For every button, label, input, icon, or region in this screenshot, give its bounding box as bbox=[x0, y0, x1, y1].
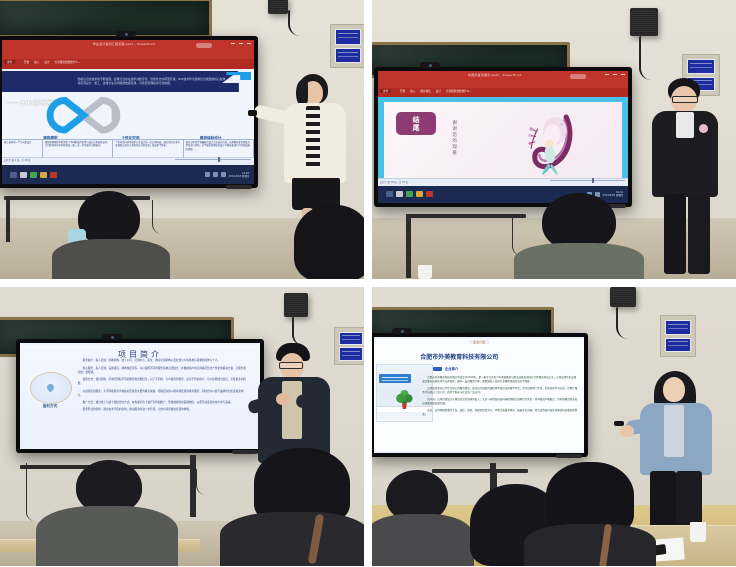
presenter-leg-right bbox=[688, 194, 710, 274]
ppt-title-text: 中国风答辩展示.pptx - PowerPoint bbox=[468, 73, 521, 77]
ppt-tab-start[interactable]: 开始 bbox=[400, 89, 405, 93]
screen-display: 项目简介 盈利方式 服务客户：私人定制、家教机构、线下公司、培训中心、医生、教育… bbox=[20, 343, 260, 449]
chinese-ink-illustration-icon bbox=[496, 106, 603, 180]
presenter-head bbox=[663, 377, 685, 402]
presenter-shirt bbox=[676, 112, 694, 138]
wall-speaker-icon bbox=[284, 293, 308, 317]
smart-screen[interactable]: 毕业设计答辩汇报定稿.pptx - PowerPoint 文件 开始 插入 设计… bbox=[0, 36, 258, 188]
ppt-titlebar: 中国风答辩展示.pptx - PowerPoint bbox=[378, 71, 628, 88]
audience-shoulders bbox=[220, 512, 364, 566]
audience-member-bag bbox=[524, 462, 656, 566]
wall-cable bbox=[26, 463, 35, 521]
slide-counter: 幻灯片 第 4 张，共 18 张 bbox=[4, 158, 30, 162]
audience-member-longhair bbox=[288, 205, 364, 279]
screen-camera-icon bbox=[102, 334, 122, 340]
company-sign bbox=[379, 374, 411, 383]
panel-top-left: 毕业设计答辩汇报定稿.pptx - PowerPoint 文件 开始 插入 设计… bbox=[0, 0, 364, 279]
wall-plate-display-top bbox=[335, 29, 361, 44]
closing-badge-text: 结尾 bbox=[411, 116, 421, 132]
blackboard-sheen bbox=[0, 1, 209, 35]
panel-top-right: 中国风答辩展示.pptx - PowerPoint 文件 开始 插入 图片格式 … bbox=[372, 0, 736, 279]
windows-taskbar[interactable]: 14:26 2024/4/18 星期四 bbox=[2, 165, 254, 184]
slide-paragraph-3: 未来，公司将继续秉持专业、诚信、创新、共赢的经营方针，不断完善服务体系，拓展业务… bbox=[422, 409, 577, 417]
presenter-clicker-icon bbox=[614, 421, 624, 426]
slide-bim: ——BIM技术发展 随着信息化技术的不断发展，建筑行业也在逐步向数字化、智能化方… bbox=[2, 69, 254, 165]
ppt-tab-insert[interactable]: 插入 bbox=[34, 60, 39, 64]
audience-member-grey bbox=[36, 460, 178, 566]
presenter-inner-shirt bbox=[664, 405, 684, 457]
smart-screen[interactable]: 项目简介 盈利方式 服务客户：私人定制、家教机构、线下公司、培训中心、医生、教育… bbox=[16, 339, 264, 453]
taskbar-apps[interactable] bbox=[386, 191, 433, 197]
window-controls[interactable] bbox=[605, 74, 625, 75]
slide-subtitle: 企业简介 bbox=[445, 366, 459, 371]
profit-badge-label: 盈利方式 bbox=[30, 404, 71, 409]
water-drop-icon bbox=[46, 383, 56, 393]
presenter-hand bbox=[620, 425, 634, 437]
closing-badge: 结尾 bbox=[396, 112, 436, 136]
slide-paragraph-2: 近年来，公司持续加大在教育信息化领域的投入，先后与多所高校和科研院所建立战略合作… bbox=[422, 398, 577, 406]
slide-paragraph-0: 合肥市外美教育科技有限公司成立于2018年，是一家专注于青少年素质教育与职业技能… bbox=[422, 376, 577, 384]
audience-member-center bbox=[514, 193, 644, 279]
photo-collage: 毕业设计答辩汇报定稿.pptx - PowerPoint 文件 开始 插入 设计… bbox=[0, 0, 736, 567]
screen-display: 企业介绍 合肥市外美教育科技有限公司 企业简介 合肥市外美教育科技有限公司成立于… bbox=[374, 337, 584, 453]
screen-brand-logo bbox=[226, 185, 252, 189]
explorer-icon[interactable] bbox=[396, 191, 403, 197]
panel-bottom-left: 项目简介 盈利方式 服务客户：私人定制、家教机构、线下公司、培训中心、医生、教育… bbox=[0, 287, 364, 566]
ppt-statusbar: 幻灯片 第 4 张，共 18 张 bbox=[2, 157, 254, 165]
slide-paragraph-1: 核心服务：私人定制、设备租赁、场地预定等等，可以按照不同的服务需求灵活组合，并根… bbox=[78, 367, 248, 376]
ppt-statusbar: 幻灯片 第 18 张，共 18 张 bbox=[378, 178, 628, 186]
presenter-glasses-icon bbox=[279, 362, 303, 369]
zoom-slider[interactable] bbox=[175, 159, 251, 160]
blackboard bbox=[0, 0, 212, 38]
audience-shoulders bbox=[52, 239, 170, 279]
slide-paragraph-0: 服务客户：私人定制、家教机构、线下公司、培训中心、医生、教育培训机构以及社会公众… bbox=[78, 359, 248, 363]
slide-title: 合肥市外美教育科技有限公司 bbox=[420, 352, 498, 361]
screen-stand-bar bbox=[406, 214, 526, 218]
wall-speaker-icon bbox=[268, 0, 288, 14]
browser-icon[interactable] bbox=[406, 191, 413, 197]
slide-paragraph-4: 推广方式：通过线上与线下相结合的方式，在各类平台上进行宣传和推广，形成规模化的品… bbox=[78, 401, 248, 405]
wall-plate-display-top bbox=[339, 332, 363, 346]
smart-screen[interactable]: 中国风答辩展示.pptx - PowerPoint 文件 开始 插入 图片格式 … bbox=[374, 67, 632, 207]
slide-subtitle-row: 企业简介 bbox=[433, 366, 459, 371]
presenter-leg-left bbox=[664, 194, 686, 274]
presenter-male-suit bbox=[644, 78, 730, 278]
powerpoint-icon[interactable] bbox=[426, 191, 433, 197]
window-controls[interactable] bbox=[231, 43, 251, 44]
taskbar-apps[interactable] bbox=[10, 172, 57, 178]
speaker-cable bbox=[639, 36, 655, 80]
ppt-tab-design[interactable]: 设计 bbox=[436, 89, 441, 93]
ppt-tab-picture-format[interactable]: 图片格式 bbox=[420, 89, 430, 93]
ppt-tab-design[interactable]: 设计 bbox=[44, 60, 49, 64]
potted-plant-icon bbox=[395, 390, 414, 404]
slide-paragraph-3: 公益性质的服务：为不同地区的学校和社区提供免费的教育资源，帮助更多的人群获得优质… bbox=[78, 390, 248, 399]
audience-shoulders bbox=[514, 243, 644, 279]
ppt-tab-file[interactable]: 文件 bbox=[4, 60, 15, 64]
power-cable bbox=[196, 469, 217, 495]
wall-control-plate bbox=[330, 24, 364, 68]
wall-plate-display-bottom bbox=[665, 338, 691, 353]
ppt-menu-items[interactable]: 开始 插入 图片格式 设计 告诉我您想要做什么... bbox=[400, 89, 472, 93]
slide-paragraph-2: 盈利方式：通过团购、区域代理和不同的服务模式相结合，对于不同的、大众量的同类型，… bbox=[78, 378, 248, 387]
slide-body-text: 随着信息化技术的不断发展，建筑行业也在逐步向数字化、智能化方向转型升级。BIM技… bbox=[78, 77, 232, 86]
taskbar-tray[interactable]: 14:26 2024/4/18 星期四 bbox=[205, 172, 249, 178]
input-method-icon[interactable] bbox=[221, 172, 226, 177]
ppt-tab-file[interactable]: 文件 bbox=[380, 89, 391, 93]
mail-icon[interactable] bbox=[416, 191, 423, 197]
screen-stand-leg bbox=[6, 196, 10, 242]
start-icon[interactable] bbox=[10, 172, 17, 178]
ppt-search-hint[interactable]: 告诉我您想要做什么... bbox=[446, 89, 472, 93]
screen-camera-icon bbox=[116, 31, 136, 37]
slide-paragraph-1: 公司始终坚持以学生为中心的教育理念，依托自主研发的课程体系和信息化教学平台，为学… bbox=[422, 387, 577, 395]
presenter-corsage-icon bbox=[699, 124, 708, 133]
wall-plate-display-bottom bbox=[339, 347, 363, 361]
ppt-tab-start[interactable]: 开始 bbox=[24, 60, 29, 64]
presenter-clicker-icon bbox=[248, 110, 257, 116]
slide-closing: 结尾 谢谢您的观看 bbox=[378, 97, 628, 185]
wall-plate-display-bottom bbox=[335, 48, 361, 63]
clock-date: 2024/4/18 星期四 bbox=[229, 175, 249, 178]
ppt-tab-insert[interactable]: 插入 bbox=[410, 89, 415, 93]
smart-screen[interactable]: 企业介绍 合肥市外美教育科技有限公司 企业简介 合肥市外美教育科技有限公司成立于… bbox=[372, 333, 588, 457]
presenter-inner-top bbox=[282, 381, 302, 439]
slide-body: 服务客户：私人定制、家教机构、线下公司、培训中心、医生、教育培训机构以及社会公众… bbox=[78, 359, 248, 442]
audience-member-bag bbox=[220, 448, 364, 566]
slide-body: 合肥市外美教育科技有限公司成立于2018年，是一家专注于青少年素质教育与职业技能… bbox=[422, 376, 577, 447]
taskbar-clock[interactable]: 14:26 2024/4/18 星期四 bbox=[229, 172, 249, 178]
wall-speaker-icon bbox=[610, 287, 636, 307]
paper-cup bbox=[690, 522, 706, 542]
slide-tag: 企业介绍 bbox=[469, 340, 489, 344]
speaker-cable bbox=[616, 307, 630, 339]
audience-member-masked bbox=[52, 191, 170, 279]
paper-cup bbox=[418, 265, 432, 279]
browser-icon[interactable] bbox=[30, 172, 37, 178]
ppt-titlebar: 毕业设计答辩汇报定稿.pptx - PowerPoint bbox=[2, 40, 254, 59]
screen-brand-logo bbox=[556, 454, 582, 458]
profit-badge-icon bbox=[30, 372, 73, 405]
wall-plate-display-top bbox=[665, 320, 691, 335]
ppt-ribbon[interactable]: 文件 开始 插入 设计 告诉我您想要做什么... bbox=[2, 59, 254, 69]
wall-speaker-icon bbox=[630, 8, 658, 36]
slide-company-profile: 企业介绍 合肥市外美教育科技有限公司 企业简介 合肥市外美教育科技有限公司成立于… bbox=[374, 339, 584, 450]
zoom-slider[interactable] bbox=[550, 180, 625, 181]
screen-display: 毕业设计答辩汇报定稿.pptx - PowerPoint 文件 开始 插入 设计… bbox=[2, 40, 254, 184]
slide-paragraph-5: 服务形式的创新：通过技术手段的创新，推动服务的进一步升级，让用户获得更加优质的体… bbox=[78, 408, 248, 412]
panel-bottom-right: 企业介绍 合肥市外美教育科技有限公司 企业简介 合肥市外美教育科技有限公司成立于… bbox=[372, 287, 736, 566]
closing-vertical-text: 谢谢您的观看 bbox=[451, 120, 457, 156]
screen-display: 中国风答辩展示.pptx - PowerPoint 文件 开始 插入 图片格式 … bbox=[378, 71, 628, 203]
screen-camera-icon bbox=[420, 62, 440, 68]
ppt-search-hint[interactable]: 告诉我您想要做什么... bbox=[55, 60, 81, 64]
screen-stand-leg bbox=[406, 214, 411, 278]
explorer-icon[interactable] bbox=[20, 172, 27, 178]
network-icon[interactable] bbox=[205, 172, 210, 177]
audience-head bbox=[78, 191, 140, 245]
ppt-share-button[interactable] bbox=[196, 43, 212, 48]
audience-shoulders bbox=[524, 524, 656, 566]
wall-control-plate bbox=[660, 315, 696, 357]
presenter-glasses-icon bbox=[672, 96, 698, 103]
speaker-cable bbox=[292, 317, 304, 345]
wall-plate-display-top bbox=[687, 59, 714, 74]
start-icon[interactable] bbox=[386, 191, 393, 197]
mail-icon[interactable] bbox=[40, 172, 47, 178]
ppt-share-button[interactable] bbox=[570, 74, 586, 79]
screen-camera-icon bbox=[392, 328, 412, 334]
subtitle-chip-icon bbox=[433, 367, 442, 371]
slide-counter: 幻灯片 第 18 张，共 18 张 bbox=[380, 180, 408, 184]
presenter-striped-top bbox=[306, 106, 320, 168]
ppt-ribbon[interactable]: 文件 开始 插入 图片格式 设计 告诉我您想要做什么... bbox=[378, 88, 628, 97]
ppt-title-text: 毕业设计答辩汇报定稿.pptx - PowerPoint bbox=[93, 42, 156, 46]
infinity-diagram-icon bbox=[12, 94, 158, 136]
volume-icon[interactable] bbox=[213, 172, 218, 177]
ppt-menu-items[interactable]: 开始 插入 设计 告诉我您想要做什么... bbox=[24, 60, 80, 64]
slide-inner-frame: 结尾 谢谢您的观看 bbox=[384, 102, 622, 180]
audience-shoulders bbox=[36, 506, 178, 566]
powerpoint-icon[interactable] bbox=[50, 172, 57, 178]
audience-head bbox=[294, 205, 364, 279]
slide-project-intro: 项目简介 盈利方式 服务客户：私人定制、家教机构、线下公司、培训中心、医生、教育… bbox=[20, 345, 260, 447]
presenter-hand bbox=[276, 393, 290, 405]
